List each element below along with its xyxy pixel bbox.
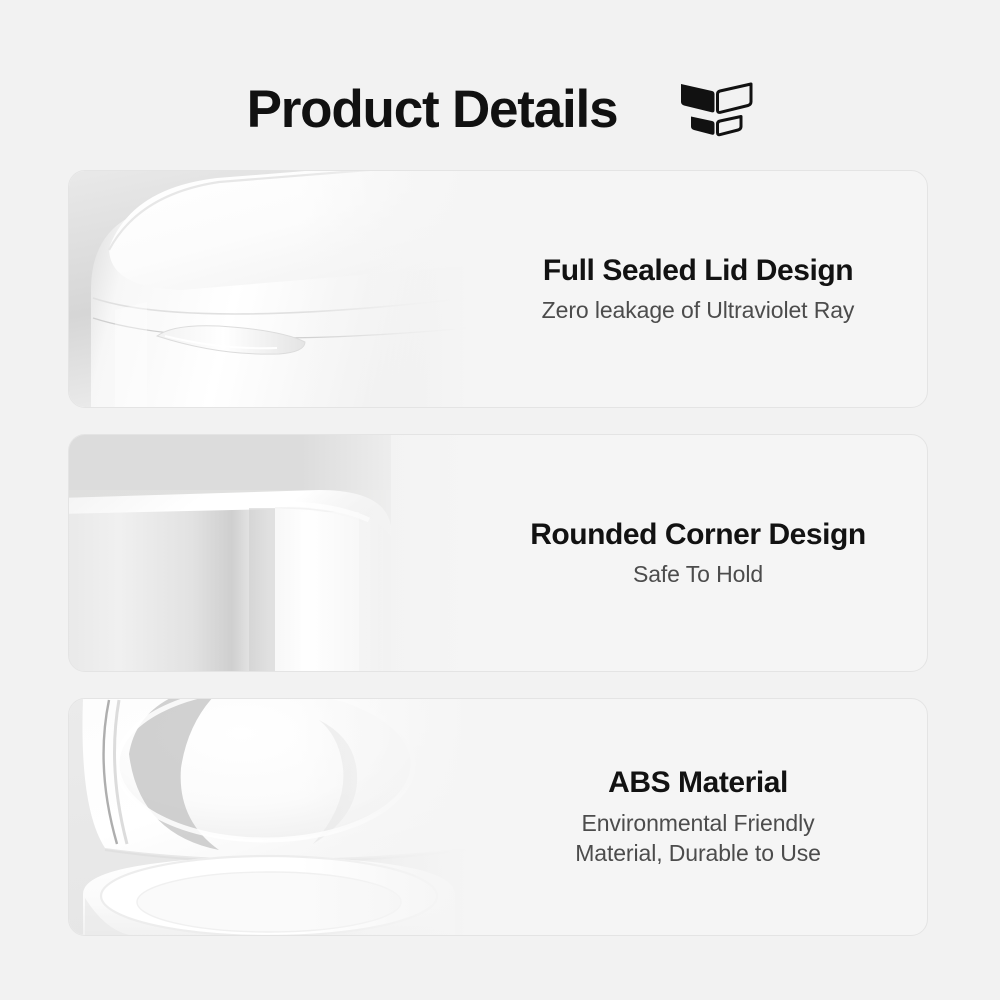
feature-text-block: Rounded Corner Design Safe To Hold bbox=[469, 435, 927, 671]
product-details-infographic: Product Details bbox=[0, 0, 1000, 1000]
feature-text-block: ABS Material Environmental FriendlyMater… bbox=[469, 699, 927, 935]
feature-image-rounded-corner bbox=[69, 435, 469, 671]
feature-heading: Rounded Corner Design bbox=[530, 517, 866, 552]
feature-card: Rounded Corner Design Safe To Hold bbox=[68, 434, 928, 672]
feature-card: Full Sealed Lid Design Zero leakage of U… bbox=[68, 170, 928, 408]
header: Product Details bbox=[0, 66, 1000, 152]
feature-subtitle: Zero leakage of Ultraviolet Ray bbox=[542, 295, 855, 325]
feature-image-sealed-lid bbox=[69, 171, 469, 407]
feature-text-block: Full Sealed Lid Design Zero leakage of U… bbox=[469, 171, 927, 407]
feature-heading: ABS Material bbox=[608, 765, 788, 800]
feature-image-abs-material bbox=[69, 699, 469, 935]
feature-subtitle: Safe To Hold bbox=[633, 559, 763, 589]
feature-heading: Full Sealed Lid Design bbox=[543, 253, 853, 288]
feature-card: ABS Material Environmental FriendlyMater… bbox=[68, 698, 928, 936]
page-title: Product Details bbox=[247, 83, 618, 136]
brand-panels-logo-icon bbox=[679, 79, 753, 139]
feature-subtitle: Environmental FriendlyMaterial, Durable … bbox=[575, 808, 821, 869]
